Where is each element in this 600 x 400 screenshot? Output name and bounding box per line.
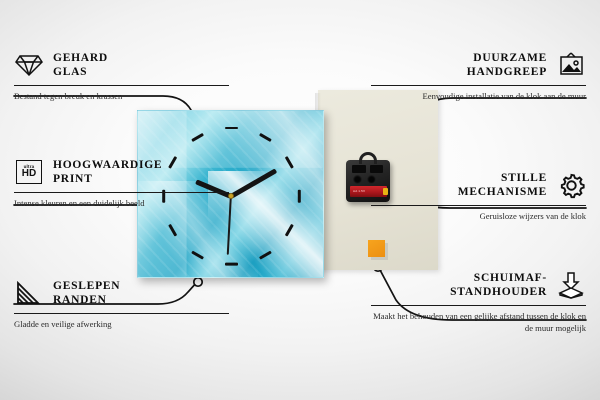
feature-stille-mechanisme: STILLE MECHANISME Geruisloze wijzers van… bbox=[371, 168, 586, 223]
clock-hour-marker bbox=[298, 189, 301, 202]
feature-title: HOOGWAARDIGE PRINT bbox=[53, 158, 162, 186]
beveled-edge-icon bbox=[14, 278, 44, 308]
divider bbox=[371, 205, 586, 206]
divider bbox=[14, 192, 229, 193]
clock-hour-marker bbox=[225, 127, 238, 130]
feature-description: Geruisloze wijzers van de klok bbox=[371, 211, 586, 222]
feature-description: Maakt het behouden van een gelijke afsta… bbox=[371, 311, 586, 334]
feature-gehard-glas: GEHARD GLAS Bestand tegen breuk en krass… bbox=[14, 48, 229, 103]
movement-hanger-icon bbox=[359, 152, 377, 164]
hanging-picture-frame-icon bbox=[556, 50, 586, 80]
feature-title: GEHARD GLAS bbox=[53, 51, 108, 79]
feature-schuimafstandhouder: SCHUIMAF- STANDHOUDER Maakt het behouden… bbox=[371, 268, 586, 334]
battery-label: AA 1.5V bbox=[353, 189, 365, 193]
divider bbox=[14, 85, 229, 86]
press-down-pad-icon bbox=[556, 270, 586, 300]
feature-description: Eenvoudige installatie van de klok aan d… bbox=[371, 91, 586, 102]
feature-title: STILLE MECHANISME bbox=[458, 171, 547, 199]
diamond-icon bbox=[14, 50, 44, 80]
feature-duurzame-handgreep: DUURZAME HANDGREEP Eenvoudige installati… bbox=[371, 48, 586, 103]
divider bbox=[371, 305, 586, 306]
feature-title: DUURZAME HANDGREEP bbox=[467, 51, 547, 79]
clock-hour-marker bbox=[225, 263, 238, 266]
infographic-canvas: AA 1.5V GEHARD GLAS Bestand tegen breuk … bbox=[0, 0, 600, 400]
foam-spacer bbox=[368, 240, 385, 257]
feature-title: SCHUIMAF- STANDHOUDER bbox=[450, 271, 547, 299]
feature-hoogwaardige-print: ultra HD HOOGWAARDIGE PRINT Intense kleu… bbox=[14, 155, 229, 210]
feature-description: Bestand tegen breuk en krassen bbox=[14, 91, 229, 102]
feature-description: Intense kleuren en een duidelijk beeld bbox=[14, 198, 229, 209]
feature-title: GESLEPEN RANDEN bbox=[53, 279, 120, 307]
divider bbox=[371, 85, 586, 86]
gear-icon bbox=[556, 170, 586, 200]
feature-description: Gladde en veilige afwerking bbox=[14, 319, 229, 330]
feature-geslepen-randen: GESLEPEN RANDEN Gladde en veilige afwerk… bbox=[14, 276, 229, 331]
ultra-hd-icon: ultra HD bbox=[14, 157, 44, 187]
divider bbox=[14, 313, 229, 314]
